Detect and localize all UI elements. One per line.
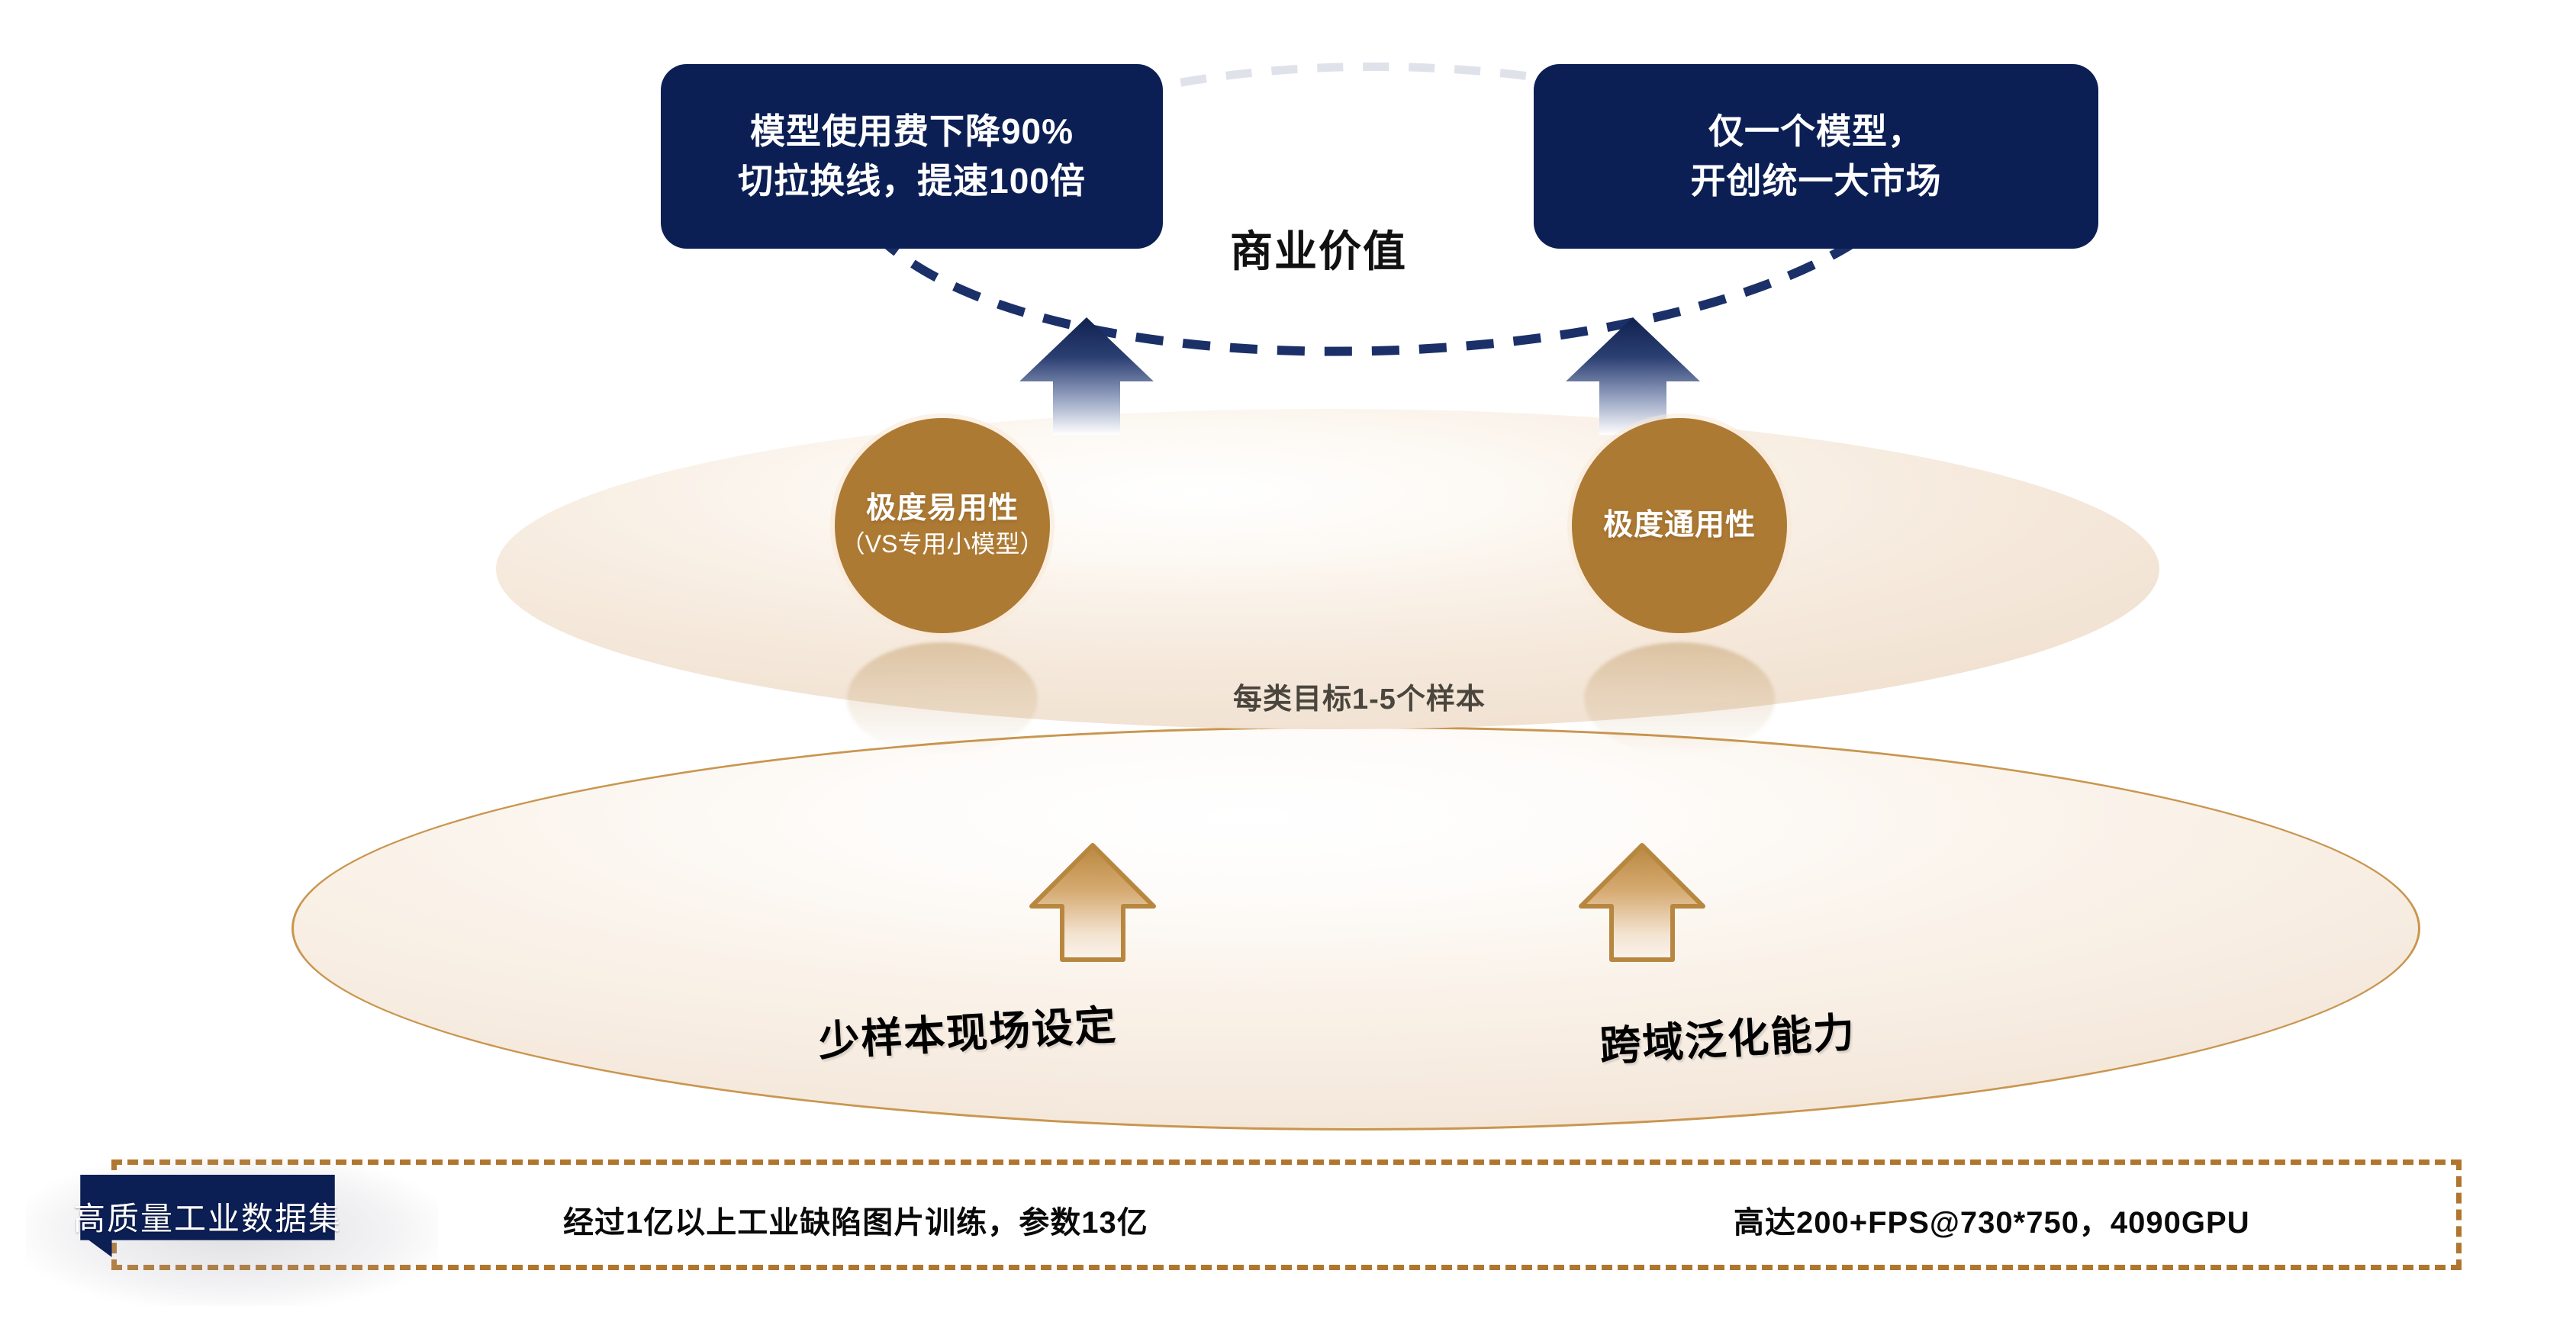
sample-count-caption: 每类目标1-5个样本 xyxy=(1233,675,1486,717)
value-box-market-line2: 开创统一大市场 xyxy=(1691,156,1942,206)
dataset-banner-label: 高质量工业数据集 xyxy=(47,1175,368,1257)
usability-circle-reflection xyxy=(847,642,1038,755)
circle-extreme-usability[interactable]: 极度易用性 （VS专用小模型） xyxy=(835,418,1050,633)
foundation-ellipse-platform xyxy=(291,726,2420,1131)
circle-usability-subtitle: （VS专用小模型） xyxy=(841,529,1045,558)
value-box-single-model-market[interactable]: 仅一个模型， 开创统一大市场 xyxy=(1534,64,2098,249)
value-box-market-line1: 仅一个模型， xyxy=(1708,107,1924,156)
circle-usability-title: 极度易用性 xyxy=(866,492,1019,526)
value-box-cost-line1: 模型使用费下降90% xyxy=(750,107,1074,156)
value-box-cost-line2: 切拉换线，提速100倍 xyxy=(738,156,1086,206)
circle-extreme-generality[interactable]: 极度通用性 xyxy=(1572,418,1787,633)
generality-circle-reflection xyxy=(1584,642,1775,755)
dataset-banner-group[interactable]: 高质量工业数据集 xyxy=(47,1175,414,1282)
foundation-stat-performance: 高达200+FPS@730*750，4090GPU xyxy=(1734,1198,2250,1242)
circle-generality-title: 极度通用性 xyxy=(1603,509,1756,543)
foundation-stat-training: 经过1亿以上工业缺陷图片训练，参数13亿 xyxy=(563,1198,1148,1242)
value-box-cost-and-speed[interactable]: 模型使用费下降90% 切拉换线，提速100倍 xyxy=(661,64,1163,249)
diagram-canvas: 极度易用性 （VS专用小模型） 极度通用性 每类目标1-5个样本 少样本现场设定… xyxy=(0,0,2576,1338)
page-title: 商业价值 xyxy=(1230,217,1407,279)
